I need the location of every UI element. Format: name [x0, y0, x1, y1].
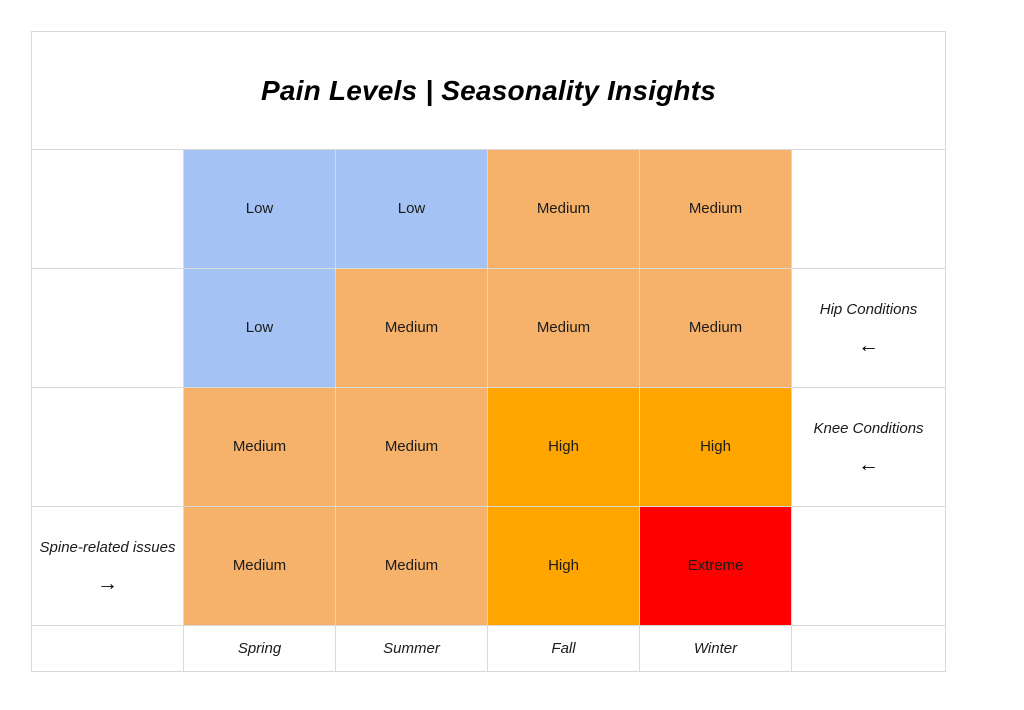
page-title: Pain Levels | Seasonality Insights: [32, 32, 946, 150]
heat-cell-r1c1[interactable]: Medium: [336, 269, 488, 388]
table-row: Medium Medium High High Knee Conditions …: [32, 388, 946, 507]
heat-cell-label: Low: [184, 200, 335, 218]
title-row: Pain Levels | Seasonality Insights: [32, 32, 946, 150]
arrow-left-icon: ←: [798, 454, 939, 475]
heat-cell-label: Medium: [336, 438, 487, 456]
heat-cell-label: Medium: [488, 200, 639, 218]
heatmap-matrix: Pain Levels | Seasonality Insights Low L…: [31, 31, 945, 672]
heat-cell-r2c0[interactable]: Medium: [184, 388, 336, 507]
heat-cell-r0c1[interactable]: Low: [336, 150, 488, 269]
heat-cell-r2c3[interactable]: High: [640, 388, 792, 507]
season-label-spring: Spring: [184, 626, 336, 672]
row-note-cell-1: [32, 150, 184, 269]
heat-cell-r1c0[interactable]: Low: [184, 269, 336, 388]
heat-cell-label: Extreme: [640, 557, 791, 575]
heat-cell-r3c0[interactable]: Medium: [184, 507, 336, 626]
season-label-text: Fall: [488, 640, 639, 657]
season-label-fall: Fall: [488, 626, 640, 672]
annotation-spine-wrap: Spine-related issues →: [32, 538, 183, 593]
heat-cell-r3c1[interactable]: Medium: [336, 507, 488, 626]
heat-cell-label: High: [488, 438, 639, 456]
table-row: Low Low Medium Medium: [32, 150, 946, 269]
heat-cell-r3c3[interactable]: Extreme: [640, 507, 792, 626]
annotation-knee-wrap: Knee Conditions ←: [792, 419, 945, 474]
axis-corner-cell: [32, 626, 184, 672]
table-row: Low Medium Medium Medium Hip Conditions …: [32, 269, 946, 388]
heat-cell-label: Low: [336, 200, 487, 218]
annotation-hip-conditions: Hip Conditions ←: [792, 269, 946, 388]
heat-cell-label: Medium: [640, 319, 791, 337]
table-row: Spine-related issues → Medium Medium Hig…: [32, 507, 946, 626]
season-axis-row: Spring Summer Fall Winter: [32, 626, 946, 672]
heat-cell-r2c2[interactable]: High: [488, 388, 640, 507]
arrow-left-icon: ←: [798, 335, 939, 356]
annotation-spine-label: Spine-related issues: [38, 538, 177, 558]
heat-cell-r2c1[interactable]: Medium: [336, 388, 488, 507]
axis-end-cell: [792, 626, 946, 672]
heat-cell-label: Medium: [488, 319, 639, 337]
heat-cell-label: Medium: [640, 200, 791, 218]
season-label-text: Spring: [184, 640, 335, 657]
heat-cell-r0c2[interactable]: Medium: [488, 150, 640, 269]
annotation-hip-wrap: Hip Conditions ←: [792, 300, 945, 355]
heat-cell-label: High: [640, 438, 791, 456]
season-label-summer: Summer: [336, 626, 488, 672]
heat-cell-label: Medium: [184, 557, 335, 575]
heat-cell-r0c0[interactable]: Low: [184, 150, 336, 269]
annotation-spine-related-issues: Spine-related issues →: [32, 507, 184, 626]
heat-cell-label: High: [488, 557, 639, 575]
season-label-text: Summer: [336, 640, 487, 657]
row-note-cell-3: [32, 388, 184, 507]
heat-cell-r1c3[interactable]: Medium: [640, 269, 792, 388]
arrow-right-icon: →: [38, 573, 177, 594]
side-note-cell-4: [792, 507, 946, 626]
heat-cell-label: Medium: [184, 438, 335, 456]
annotation-knee-label: Knee Conditions: [798, 419, 939, 439]
row-note-cell-2: [32, 269, 184, 388]
heat-cell-label: Low: [184, 319, 335, 337]
heat-cell-label: Medium: [336, 319, 487, 337]
pain-level-table: Pain Levels | Seasonality Insights Low L…: [31, 31, 946, 672]
heat-cell-r0c3[interactable]: Medium: [640, 150, 792, 269]
heat-cell-r1c2[interactable]: Medium: [488, 269, 640, 388]
annotation-knee-conditions: Knee Conditions ←: [792, 388, 946, 507]
season-label-text: Winter: [640, 640, 791, 657]
heat-cell-r3c2[interactable]: High: [488, 507, 640, 626]
side-note-cell-1: [792, 150, 946, 269]
heat-cell-label: Medium: [336, 557, 487, 575]
season-label-winter: Winter: [640, 626, 792, 672]
annotation-hip-label: Hip Conditions: [798, 300, 939, 320]
